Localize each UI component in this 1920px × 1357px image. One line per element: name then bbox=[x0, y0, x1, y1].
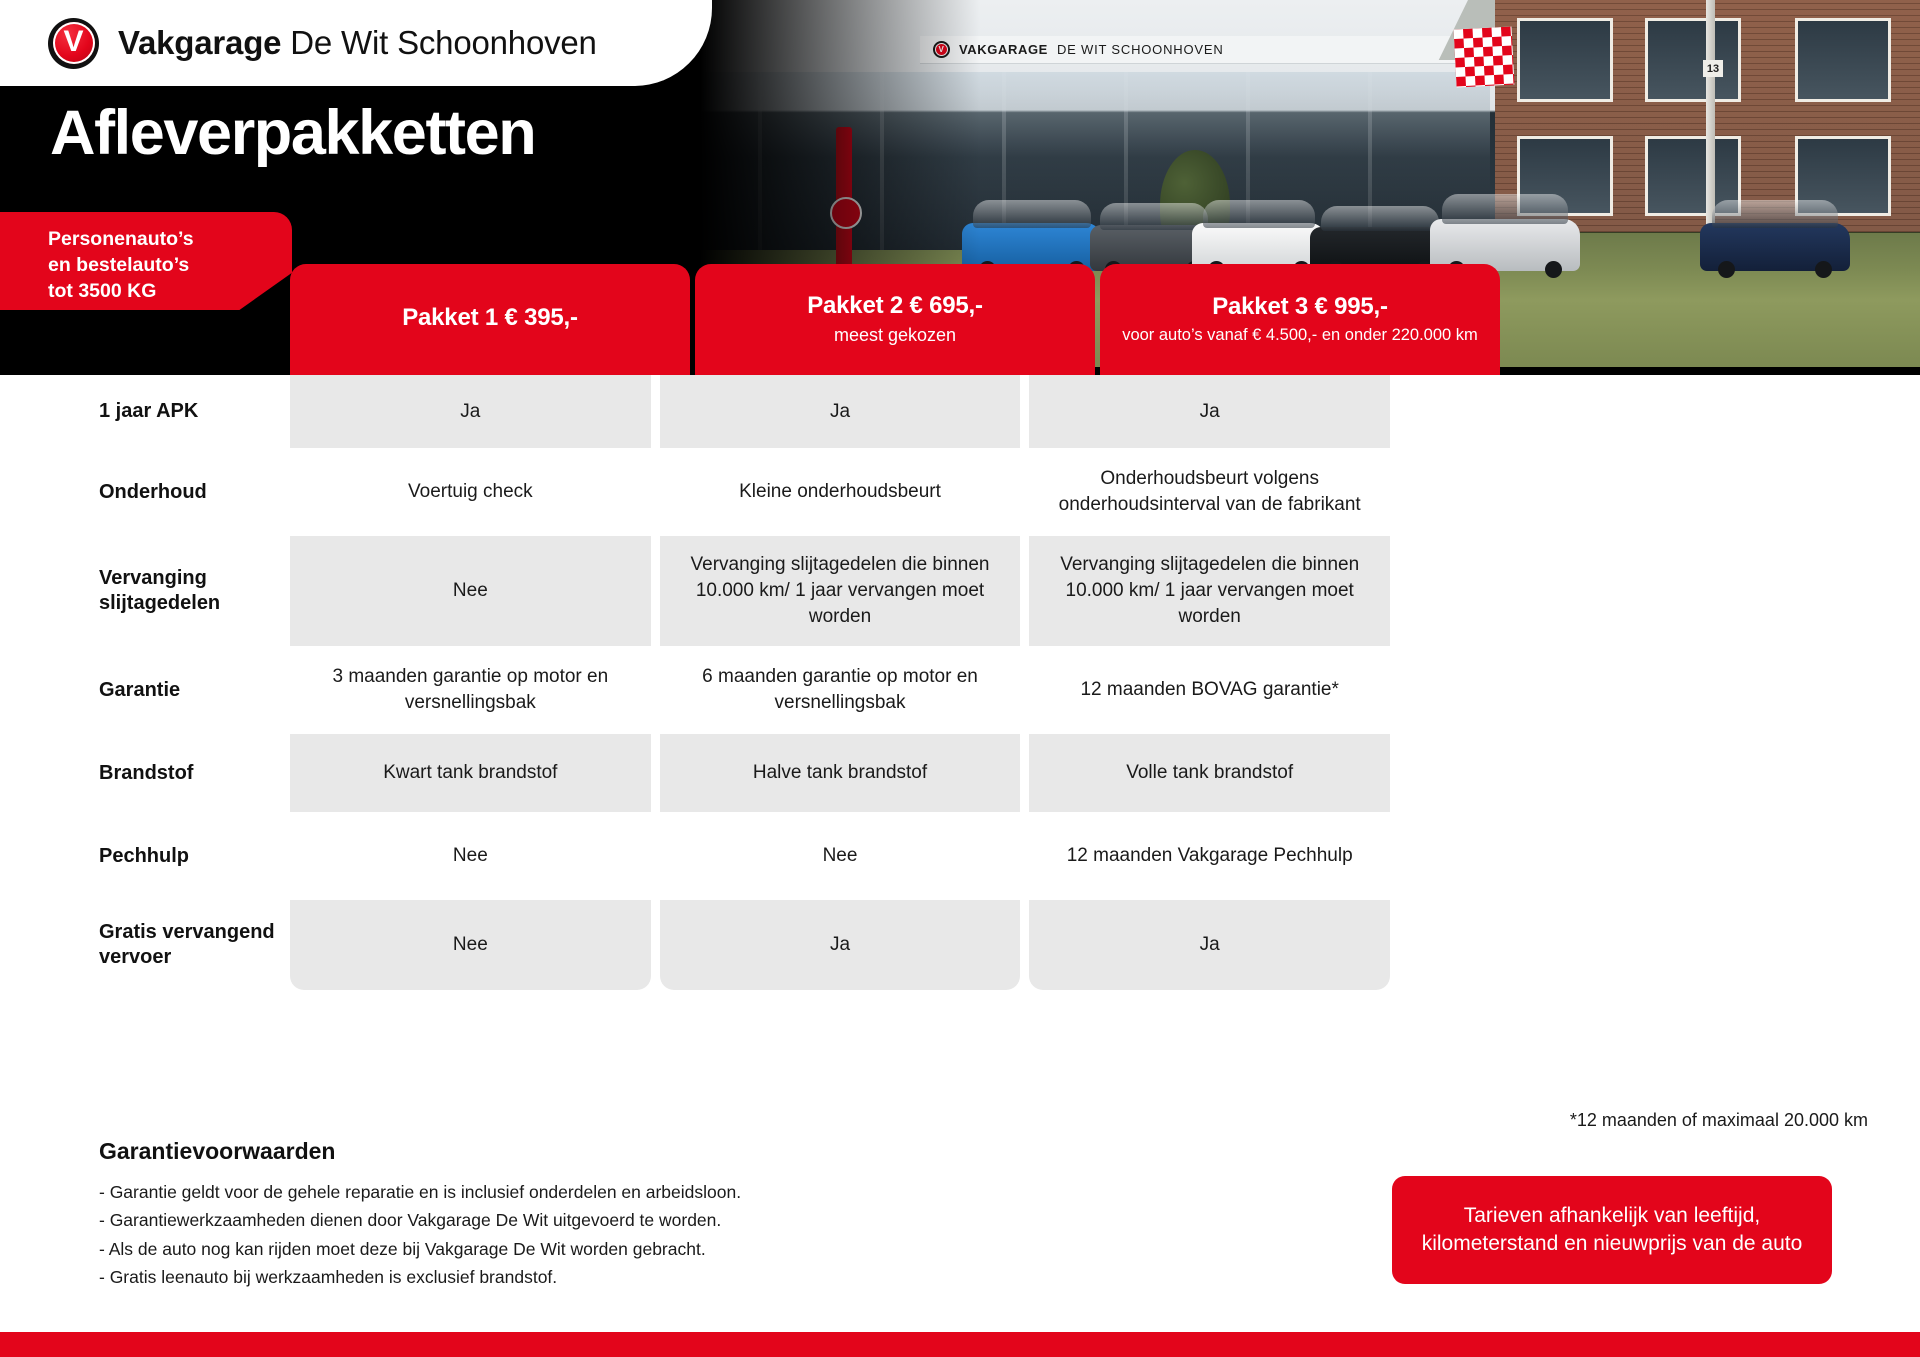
package-subtitle: voor auto’s vanaf € 4.500,- en onder 220… bbox=[1122, 325, 1478, 346]
table-cell: 12 maanden Vakgarage Pechhulp bbox=[1029, 812, 1390, 900]
table-row: Brandstof Kwart tank brandstof Halve tan… bbox=[0, 734, 1920, 812]
table-cell: Ja bbox=[1029, 900, 1390, 990]
package-subtitle: meest gekozen bbox=[834, 324, 956, 347]
table-cell: Voertuig check bbox=[290, 448, 651, 536]
table-cell: Vervanging slijtagedelen die binnen 10.0… bbox=[1029, 536, 1390, 646]
pricing-disclaimer-callout: Tarieven afhankelijk van leeftijd, kilom… bbox=[1392, 1176, 1832, 1284]
terms-heading: Garantievoorwaarden bbox=[99, 1138, 999, 1165]
table-cell: Kleine onderhoudsbeurt bbox=[660, 448, 1021, 536]
package-title: Pakket 1 € 395,- bbox=[402, 304, 578, 332]
table-cell: Kwart tank brandstof bbox=[290, 734, 651, 812]
terms-line: - Gratis leenauto bij werkzaamheden is e… bbox=[99, 1263, 999, 1291]
table-row: Garantie 3 maanden garantie op motor en … bbox=[0, 646, 1920, 734]
table-cell: Nee bbox=[290, 900, 651, 990]
warranty-footnote: *12 maanden of maximaal 20.000 km bbox=[1570, 1110, 1868, 1131]
package-title: Pakket 2 € 695,- bbox=[807, 292, 983, 320]
table-cell: Vervanging slijtagedelen die binnen 10.0… bbox=[660, 536, 1021, 646]
table-cell: Ja bbox=[1029, 375, 1390, 448]
package-header-1[interactable]: Pakket 1 € 395,- bbox=[290, 264, 690, 375]
row-label: Vervanging slijtagedelen bbox=[0, 536, 290, 646]
terms-line: - Garantie geldt voor de gehele reparati… bbox=[99, 1178, 999, 1206]
row-label: Brandstof bbox=[0, 734, 290, 812]
comparison-table: 1 jaar APK Ja Ja Ja Onderhoud Voertuig c… bbox=[0, 375, 1920, 990]
row-label: 1 jaar APK bbox=[0, 375, 290, 448]
package-header-3[interactable]: Pakket 3 € 995,- voor auto’s vanaf € 4.5… bbox=[1100, 264, 1500, 375]
brand-logo-bar: V Vakgarage De Wit Schoonhoven bbox=[0, 0, 712, 86]
table-cell: Ja bbox=[290, 375, 651, 448]
table-cell: Nee bbox=[290, 536, 651, 646]
package-header-2[interactable]: Pakket 2 € 695,- meest gekozen bbox=[695, 264, 1095, 375]
table-cell: Nee bbox=[660, 812, 1021, 900]
table-cell: Ja bbox=[660, 375, 1021, 448]
row-label: Onderhoud bbox=[0, 448, 290, 536]
table-cell: 6 maanden garantie op motor en versnelli… bbox=[660, 646, 1021, 734]
table-cell: Ja bbox=[660, 900, 1021, 990]
row-label: Gratis vervangend vervoer bbox=[0, 900, 290, 990]
table-row: Onderhoud Voertuig check Kleine onderhou… bbox=[0, 448, 1920, 536]
table-row: Pechhulp Nee Nee 12 maanden Vakgarage Pe… bbox=[0, 812, 1920, 900]
table-row: 1 jaar APK Ja Ja Ja bbox=[0, 375, 1920, 448]
table-cell: Halve tank brandstof bbox=[660, 734, 1021, 812]
bottom-accent-bar bbox=[0, 1332, 1920, 1357]
table-cell: Nee bbox=[290, 812, 651, 900]
table-row: Gratis vervangend vervoer Nee Ja Ja bbox=[0, 900, 1920, 990]
row-label: Pechhulp bbox=[0, 812, 290, 900]
brand-name-light: De Wit Schoonhoven bbox=[290, 24, 596, 61]
table-cell: Onderhoudsbeurt volgens onderhoudsinterv… bbox=[1029, 448, 1390, 536]
row-label: Garantie bbox=[0, 646, 290, 734]
warranty-terms: Garantievoorwaarden - Garantie geldt voo… bbox=[99, 1138, 999, 1291]
segment-tag: Personenauto’s en bestelauto’s tot 3500 … bbox=[0, 212, 292, 310]
table-cell: 3 maanden garantie op motor en versnelli… bbox=[290, 646, 651, 734]
brand-name: Vakgarage De Wit Schoonhoven bbox=[118, 24, 597, 62]
table-cell: Volle tank brandstof bbox=[1029, 734, 1390, 812]
terms-line: - Als de auto nog kan rijden moet deze b… bbox=[99, 1235, 999, 1263]
table-row: Vervanging slijtagedelen Nee Vervanging … bbox=[0, 536, 1920, 646]
brand-name-bold: Vakgarage bbox=[118, 24, 281, 61]
flyer-page: VAKGARAGE DE WIT SCHOONHOVEN 13 bbox=[0, 0, 1920, 1357]
vakgarage-v-logo-icon: V bbox=[48, 18, 99, 69]
table-cell: 12 maanden BOVAG garantie* bbox=[1029, 646, 1390, 734]
package-title: Pakket 3 € 995,- bbox=[1212, 293, 1388, 321]
page-title: Afleverpakketten bbox=[50, 97, 535, 169]
terms-line: - Garantiewerkzaamheden dienen door Vakg… bbox=[99, 1206, 999, 1234]
logo-letter: V bbox=[63, 27, 83, 57]
